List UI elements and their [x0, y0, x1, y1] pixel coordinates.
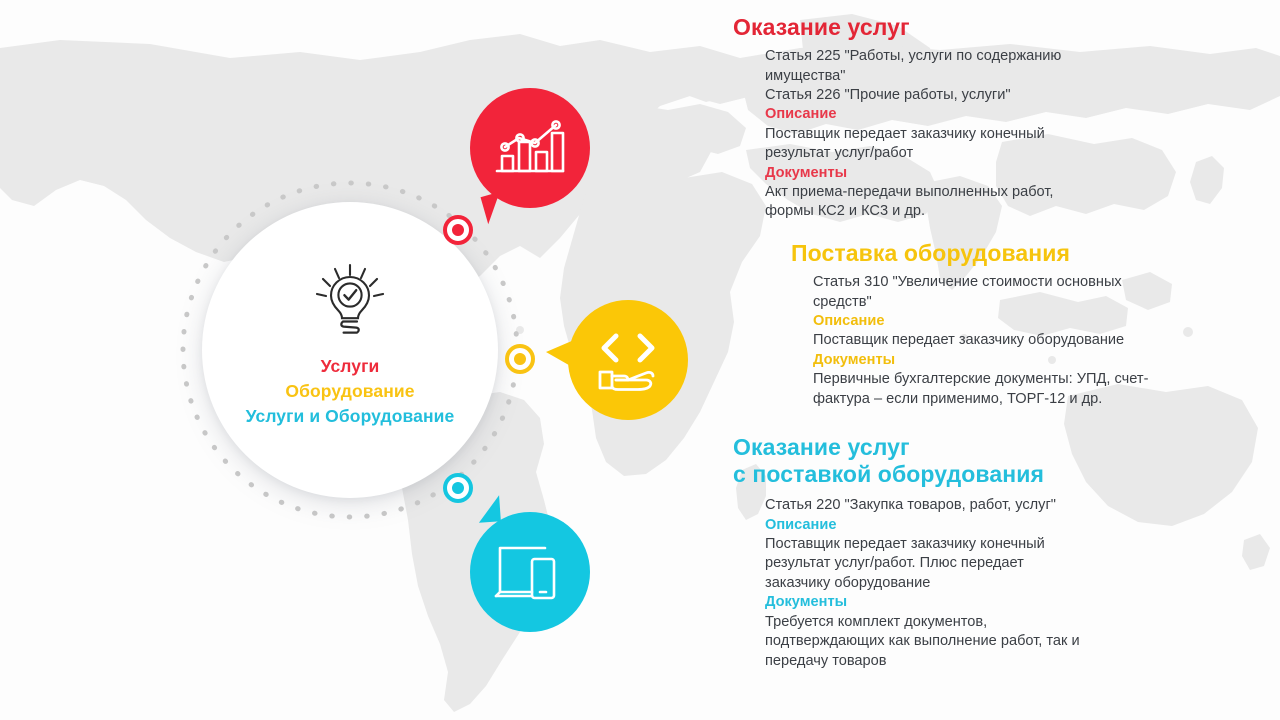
panel-services-documents-text: Акт приема-передачи выполненных работ, ф… [765, 183, 1093, 222]
panel-both-title: Оказание услугс поставкой оборудования [733, 434, 1093, 488]
bubble-services[interactable] [470, 88, 590, 208]
panel-equipment-description-label: Описание [813, 312, 1153, 331]
hub-content: Услуги Оборудование Услуги и Оборудовани… [202, 202, 498, 498]
panel-both-title-line-2: с поставкой оборудования [733, 461, 1044, 487]
panel-equipment-title: Поставка оборудования [791, 240, 1153, 267]
panel-equipment-body: Статья 310 "Увеличение стоимости основны… [813, 273, 1153, 409]
marker-equipment[interactable] [505, 344, 535, 374]
hub-labels: Услуги Оборудование Услуги и Оборудовани… [246, 354, 455, 429]
code-hand-icon [590, 326, 666, 394]
bubble-tail [477, 495, 501, 522]
hub-label-both: Услуги и Оборудование [246, 404, 455, 429]
panel-both-description-label: Описание [765, 516, 1093, 535]
panel-services-title: Оказание услуг [733, 14, 1093, 41]
laptop-phone-icon [492, 540, 568, 604]
lightbulb-check-icon [309, 260, 391, 342]
bar-chart-trend-icon [492, 116, 568, 180]
bubble-equipment[interactable] [568, 300, 688, 420]
hub-label-services: Услуги [246, 354, 455, 379]
panel-both-description-text: Поставщик передает заказчику конечный ре… [765, 535, 1093, 593]
panel-services-article-2: Статья 226 "Прочие работы, услуги" [765, 86, 1093, 105]
panel-services-body: Статья 225 "Работы, услуги по содержанию… [765, 47, 1093, 222]
panel-equipment: Поставка оборудования Статья 310 "Увелич… [733, 240, 1153, 409]
marker-both[interactable] [443, 473, 473, 503]
panel-both-title-line-1: Оказание услуг [733, 434, 910, 460]
panel-services: Оказание услуг Статья 225 "Работы, услуг… [733, 14, 1093, 222]
panel-services-documents-label: Документы [765, 164, 1093, 183]
panel-both: Оказание услугс поставкой оборудования С… [733, 434, 1093, 671]
panel-both-body: Статья 220 "Закупка товаров, работ, услу… [765, 496, 1093, 671]
panel-services-description-text: Поставщик передает заказчику конечный ре… [765, 125, 1093, 164]
panel-both-article-1: Статья 220 "Закупка товаров, работ, услу… [765, 496, 1093, 515]
infographic-canvas: Услуги Оборудование Услуги и Оборудовани… [0, 0, 1280, 720]
panel-services-article-1: Статья 225 "Работы, услуги по содержанию… [765, 47, 1093, 86]
panel-both-documents-label: Документы [765, 593, 1093, 612]
panel-both-documents-text: Требуется комплект документов, подтвержд… [765, 613, 1093, 671]
panel-services-description-label: Описание [765, 105, 1093, 124]
panel-equipment-article-1: Статья 310 "Увеличение стоимости основны… [813, 273, 1153, 312]
marker-services[interactable] [443, 215, 473, 245]
panel-equipment-description-text: Поставщик передает заказчику оборудовани… [813, 331, 1153, 350]
hub-label-equipment: Оборудование [246, 379, 455, 404]
panel-equipment-documents-text: Первичные бухгалтерские документы: УПД, … [813, 370, 1153, 409]
panel-equipment-documents-label: Документы [813, 351, 1153, 370]
bubble-both[interactable] [470, 512, 590, 632]
bubble-tail [546, 340, 574, 368]
